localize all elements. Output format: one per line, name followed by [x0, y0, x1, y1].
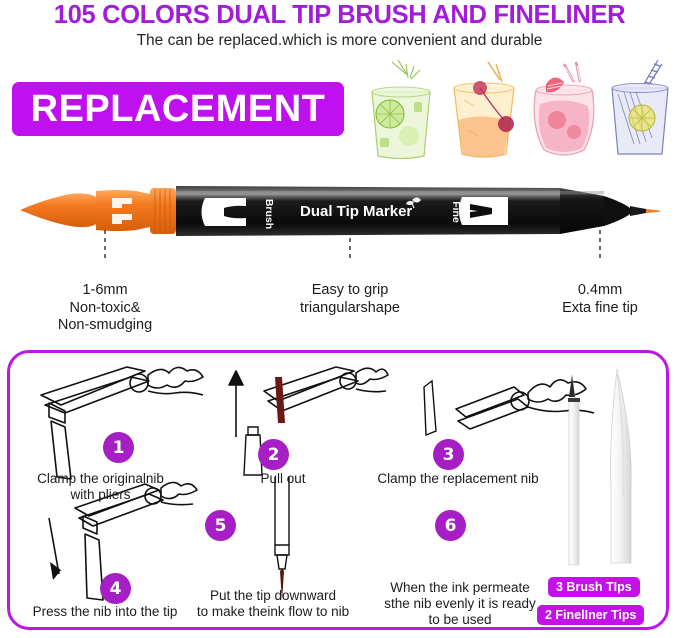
fineliner-tips-pill-label: 2 FinelIner Tips [545, 608, 636, 622]
pen-brand-label: Dual Tip Marker [300, 203, 412, 220]
step-1-caption-line-2: with pliers [18, 487, 183, 503]
lavender-lemon-drink [604, 58, 676, 162]
page-subtitle: The can be replaced.which is more conven… [0, 31, 679, 51]
step-3-caption-line-1: Clamp the replacement nib [358, 471, 558, 487]
step-1-caption-line-1: Clamp the originalnib [18, 471, 183, 487]
callout-brush-tip-line-1: 1-6mm [25, 282, 185, 300]
fineliner-tips-pill: 2 FinelIner Tips [537, 605, 644, 625]
callout-grip: Easy to grip triangularshape [270, 282, 430, 317]
step-6-badge: 6 [435, 510, 466, 541]
callout-grip-line-2: triangularshape [270, 300, 430, 318]
callout-brush-tip-line-3: Non-smudging [25, 317, 185, 335]
step-2-illustration [218, 361, 388, 481]
step-3-badge: 3 [433, 439, 464, 470]
step-1-caption: Clamp the originalnib with pliers [18, 471, 183, 503]
step-6-caption-line-3: to be used [370, 612, 550, 628]
step-2-caption: Pull out [228, 471, 338, 487]
callout-fine-tip-line-2: Exta fine tip [520, 300, 679, 318]
mojito-lime-drink [362, 58, 440, 162]
step-3-number: 3 [443, 445, 455, 465]
step-6-caption: When the ink permeate sthe nib evenly it… [370, 580, 550, 628]
step-5-caption-line-2: to make theink flow to nib [178, 604, 368, 620]
step-1-badge: 1 [103, 432, 134, 463]
replacement-nibs-illustration [555, 367, 655, 577]
brush-tips-pill: 3 Brush TIps [548, 577, 640, 597]
cherry-citrus-drink [444, 58, 524, 162]
replacement-banner-label: REPLACEMENT [31, 89, 326, 129]
step-1-illustration [35, 361, 210, 481]
step-5-caption-line-1: Put the tip downward [178, 588, 368, 604]
step-5-caption: Put the tip downward to make theink flow… [178, 588, 368, 620]
step-6-number: 6 [445, 516, 457, 536]
page-title: 105 COLORS DUAL TIP BRUSH AND FINELINER [0, 0, 679, 30]
step-2-badge: 2 [258, 439, 289, 470]
callout-fine-tip-line-1: 0.4mm [520, 282, 679, 300]
step-2-number: 2 [268, 445, 280, 465]
step-6-caption-line-2: sthe nib evenly it is ready [370, 596, 550, 612]
strawberry-pink-drink [524, 58, 604, 162]
step-5-number: 5 [215, 516, 227, 536]
step-5-illustration [255, 473, 315, 605]
step-2-caption-line-1: Pull out [228, 471, 338, 487]
infographic-page: 105 COLORS DUAL TIP BRUSH AND FINELINER … [0, 0, 679, 638]
drink-illustrations [358, 58, 676, 162]
step-5-badge: 5 [205, 510, 236, 541]
brush-nib-shape [611, 369, 632, 563]
fineliner-nib-shape [568, 375, 580, 565]
callout-brush-tip: 1-6mm Non-toxic& Non-smudging [25, 282, 185, 335]
step-4-caption-line-1: Press the nib into the tip [15, 604, 195, 620]
brush-tips-pill-label: 3 Brush TIps [556, 580, 632, 594]
callout-brush-tip-line-2: Non-toxic& [25, 300, 185, 318]
replacement-instructions-panel: 1 2 3 4 5 6 Clamp the originalnib with p… [7, 350, 669, 630]
step-3-caption: Clamp the replacement nib [358, 471, 558, 487]
step-4-badge: 4 [100, 573, 131, 604]
pen-brush-label: Brush [263, 199, 275, 229]
step-6-caption-line-1: When the ink permeate [370, 580, 550, 596]
replacement-banner: REPLACEMENT [12, 82, 344, 136]
step-4-caption: Press the nib into the tip [15, 604, 195, 620]
step-1-number: 1 [113, 438, 125, 458]
callout-grip-line-1: Easy to grip [270, 282, 430, 300]
callout-fine-tip: 0.4mm Exta fine tip [520, 282, 679, 317]
dual-tip-marker-illustration: Brush Dual Tip Marker Fine [0, 172, 679, 252]
step-4-number: 4 [110, 579, 122, 599]
